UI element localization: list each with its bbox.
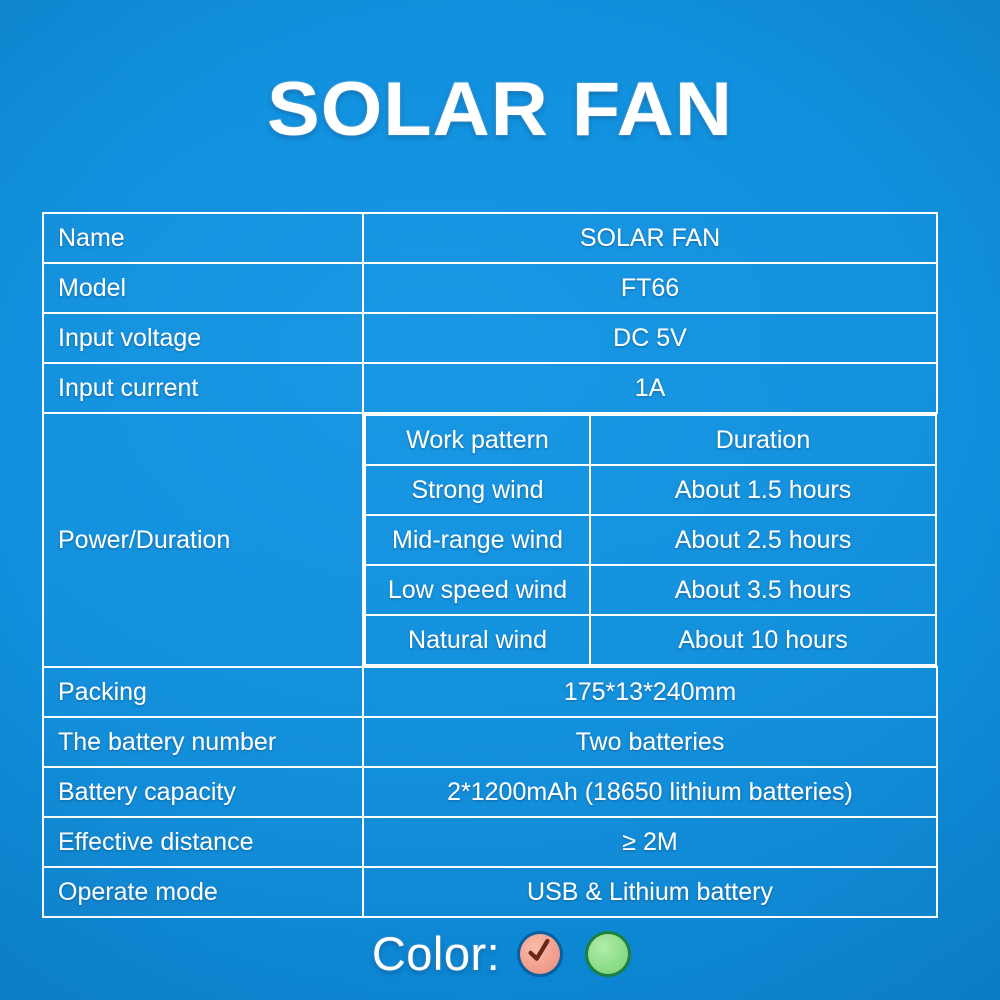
table-row: Battery capacity 2*1200mAh (18650 lithiu… (43, 767, 937, 817)
product-spec-poster: SOLAR FAN Name SOLAR FAN Model FT66 Inpu… (0, 0, 1000, 1000)
work-pattern-low-speed-wind: Low speed wind (365, 565, 590, 615)
color-section: Color: (0, 926, 1000, 981)
spec-value-name: SOLAR FAN (363, 213, 937, 263)
power-duration-subtable-cell: Work pattern Duration Strong wind About … (363, 413, 937, 667)
spec-label-operate-mode: Operate mode (43, 867, 363, 917)
specification-table: Name SOLAR FAN Model FT66 Input voltage … (42, 212, 938, 918)
color-swatch-pink[interactable] (520, 934, 560, 974)
duration-natural-wind: About 10 hours (590, 615, 936, 665)
spec-value-model: FT66 (363, 263, 937, 313)
table-row: Packing 175*13*240mm (43, 667, 937, 717)
table-row: Input voltage DC 5V (43, 313, 937, 363)
spec-label-effective-distance: Effective distance (43, 817, 363, 867)
subtable-header-duration: Duration (590, 415, 936, 465)
table-row: Model FT66 (43, 263, 937, 313)
power-duration-table: Work pattern Duration Strong wind About … (364, 414, 937, 666)
table-row-power-duration: Power/Duration Work pattern Duration Str… (43, 413, 937, 667)
spec-value-battery-capacity: 2*1200mAh (18650 lithium batteries) (363, 767, 937, 817)
spec-value-effective-distance: ≥ 2M (363, 817, 937, 867)
work-pattern-mid-range-wind: Mid-range wind (365, 515, 590, 565)
spec-label-model: Model (43, 263, 363, 313)
spec-value-packing: 175*13*240mm (363, 667, 937, 717)
subtable-row: Low speed wind About 3.5 hours (365, 565, 936, 615)
spec-value-battery-number: Two batteries (363, 717, 937, 767)
subtable-row: Natural wind About 10 hours (365, 615, 936, 665)
subtable-header-row: Work pattern Duration (365, 415, 936, 465)
page-title: SOLAR FAN (0, 72, 1000, 148)
table-row: Name SOLAR FAN (43, 213, 937, 263)
subtable-header-work-pattern: Work pattern (365, 415, 590, 465)
color-label: Color: (372, 926, 500, 981)
subtable-row: Mid-range wind About 2.5 hours (365, 515, 936, 565)
work-pattern-natural-wind: Natural wind (365, 615, 590, 665)
spec-label-packing: Packing (43, 667, 363, 717)
spec-label-input-voltage: Input voltage (43, 313, 363, 363)
spec-value-operate-mode: USB & Lithium battery (363, 867, 937, 917)
spec-label-power-duration: Power/Duration (43, 413, 363, 667)
spec-label-battery-number: The battery number (43, 717, 363, 767)
duration-mid-range-wind: About 2.5 hours (590, 515, 936, 565)
table-row: The battery number Two batteries (43, 717, 937, 767)
subtable-row: Strong wind About 1.5 hours (365, 465, 936, 515)
check-icon (525, 937, 554, 966)
spec-label-battery-capacity: Battery capacity (43, 767, 363, 817)
spec-value-input-voltage: DC 5V (363, 313, 937, 363)
work-pattern-strong-wind: Strong wind (365, 465, 590, 515)
duration-low-speed-wind: About 3.5 hours (590, 565, 936, 615)
duration-strong-wind: About 1.5 hours (590, 465, 936, 515)
spec-label-input-current: Input current (43, 363, 363, 413)
table-row: Effective distance ≥ 2M (43, 817, 937, 867)
spec-value-input-current: 1A (363, 363, 937, 413)
table-row: Operate mode USB & Lithium battery (43, 867, 937, 917)
color-swatch-green[interactable] (588, 934, 628, 974)
table-row: Input current 1A (43, 363, 937, 413)
spec-label-name: Name (43, 213, 363, 263)
